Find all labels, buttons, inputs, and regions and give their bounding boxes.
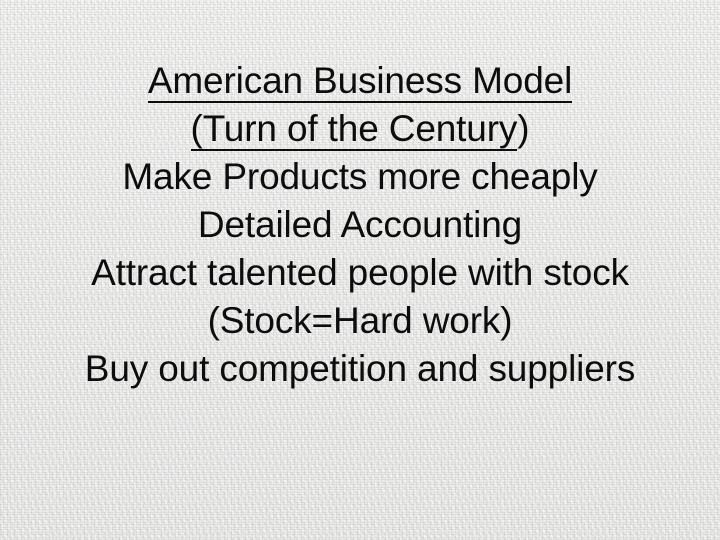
slide-line-buy-out-competition: Buy out competition and suppliers (0, 345, 720, 393)
slide-line-make-products: Make Products more cheaply (0, 153, 720, 201)
slide-line-stock-equals-hard-work: (Stock=Hard work) (0, 297, 720, 345)
slide-text-block: American Business Model (Turn of the Cen… (0, 57, 720, 393)
presentation-slide: American Business Model (Turn of the Cen… (0, 0, 720, 540)
slide-line-title-underlined: American Business Model (148, 57, 572, 105)
slide-line-subtitle-underlined: (Turn of the Century (191, 105, 518, 153)
slide-line-subtitle: (Turn of the Century) (0, 105, 720, 153)
slide-line-title: American Business Model (0, 57, 720, 105)
slide-line-attract-talent: Attract talented people with stock (0, 249, 720, 297)
slide-line-detailed-accounting: Detailed Accounting (0, 201, 720, 249)
slide-line-subtitle-tail: ) (517, 105, 529, 153)
